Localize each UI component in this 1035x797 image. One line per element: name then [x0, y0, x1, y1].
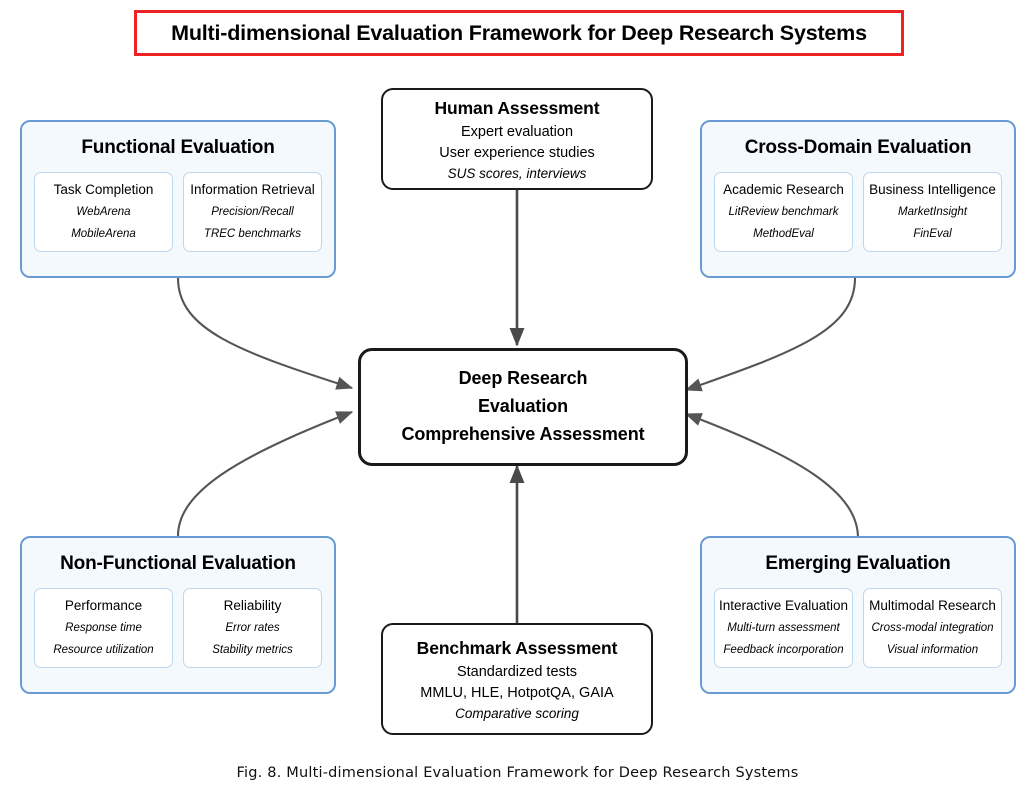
node-line: Expert evaluation — [461, 124, 573, 140]
figure-title-text: Multi-dimensional Evaluation Framework f… — [171, 21, 867, 46]
subbox-performance[interactable]: Performance Response time Resource utili… — [34, 588, 173, 668]
node-line-italic: SUS scores, interviews — [448, 166, 587, 181]
panel-title: Cross-Domain Evaluation — [702, 137, 1014, 159]
subbox-heading: Business Intelligence — [866, 181, 999, 199]
node-line-italic: Comparative scoring — [455, 706, 579, 721]
node-line: MMLU, HLE, HotpotQA, GAIA — [420, 685, 613, 701]
subbox-item: Error rates — [186, 621, 319, 637]
panel-title: Non-Functional Evaluation — [22, 553, 334, 575]
arrow-emerging-to-center — [686, 414, 858, 538]
subbox-heading: Task Completion — [37, 181, 170, 199]
subbox-heading: Academic Research — [717, 181, 850, 199]
panel-title: Functional Evaluation — [22, 137, 334, 159]
panel-subbox-group: Performance Response time Resource utili… — [22, 588, 334, 668]
subbox-item: WebArena — [37, 205, 170, 221]
subbox-item: Feedback incorporation — [717, 643, 850, 659]
subbox-item: FinEval — [866, 227, 999, 243]
hub-line: Comprehensive Assessment — [401, 421, 644, 449]
subbox-multimodal-research[interactable]: Multimodal Research Cross-modal integrat… — [863, 588, 1002, 668]
arrow-nonfunctional-to-center — [178, 412, 352, 536]
subbox-interactive-evaluation[interactable]: Interactive Evaluation Multi-turn assess… — [714, 588, 853, 668]
subbox-heading: Information Retrieval — [186, 181, 319, 199]
node-line: User experience studies — [439, 145, 595, 161]
subbox-item: Cross-modal integration — [866, 621, 999, 637]
panel-non-functional-evaluation[interactable]: Non-Functional Evaluation Performance Re… — [20, 536, 336, 694]
hub-line: Evaluation — [478, 393, 568, 421]
subbox-task-completion[interactable]: Task Completion WebArena MobileArena — [34, 172, 173, 252]
subbox-item: Visual information — [866, 643, 999, 659]
node-title: Benchmark Assessment — [417, 638, 618, 659]
subbox-item: MethodEval — [717, 227, 850, 243]
panel-functional-evaluation[interactable]: Functional Evaluation Task Completion We… — [20, 120, 336, 278]
hub-line: Deep Research — [459, 365, 588, 393]
node-benchmark-assessment[interactable]: Benchmark Assessment Standardized tests … — [381, 623, 653, 735]
arrow-functional-to-center — [178, 278, 352, 388]
subbox-item: Precision/Recall — [186, 205, 319, 221]
node-title: Human Assessment — [434, 98, 599, 119]
panel-subbox-group: Academic Research LitReview benchmark Me… — [702, 172, 1014, 252]
subbox-item: TREC benchmarks — [186, 227, 319, 243]
figure-title-banner: Multi-dimensional Evaluation Framework f… — [134, 10, 904, 56]
node-center-deep-research-evaluation[interactable]: Deep Research Evaluation Comprehensive A… — [358, 348, 688, 466]
subbox-item: MobileArena — [37, 227, 170, 243]
subbox-item: Response time — [37, 621, 170, 637]
subbox-heading: Interactive Evaluation — [717, 597, 850, 615]
subbox-heading: Multimodal Research — [866, 597, 999, 615]
subbox-item: Resource utilization — [37, 643, 170, 659]
subbox-information-retrieval[interactable]: Information Retrieval Precision/Recall T… — [183, 172, 322, 252]
panel-title: Emerging Evaluation — [702, 553, 1014, 575]
panel-cross-domain-evaluation[interactable]: Cross-Domain Evaluation Academic Researc… — [700, 120, 1016, 278]
panel-subbox-group: Interactive Evaluation Multi-turn assess… — [702, 588, 1014, 668]
figure-caption: Fig. 8. Multi-dimensional Evaluation Fra… — [0, 765, 1035, 781]
figure-canvas: Multi-dimensional Evaluation Framework f… — [0, 0, 1035, 797]
subbox-item: LitReview benchmark — [717, 205, 850, 221]
subbox-item: MarketInsight — [866, 205, 999, 221]
panel-subbox-group: Task Completion WebArena MobileArena Inf… — [22, 172, 334, 252]
subbox-reliability[interactable]: Reliability Error rates Stability metric… — [183, 588, 322, 668]
subbox-item: Stability metrics — [186, 643, 319, 659]
subbox-academic-research[interactable]: Academic Research LitReview benchmark Me… — [714, 172, 853, 252]
node-human-assessment[interactable]: Human Assessment Expert evaluation User … — [381, 88, 653, 190]
subbox-heading: Reliability — [186, 597, 319, 615]
node-line: Standardized tests — [457, 664, 577, 680]
arrow-crossdomain-to-center — [686, 278, 855, 390]
subbox-heading: Performance — [37, 597, 170, 615]
subbox-business-intelligence[interactable]: Business Intelligence MarketInsight FinE… — [863, 172, 1002, 252]
subbox-item: Multi-turn assessment — [717, 621, 850, 637]
panel-emerging-evaluation[interactable]: Emerging Evaluation Interactive Evaluati… — [700, 536, 1016, 694]
